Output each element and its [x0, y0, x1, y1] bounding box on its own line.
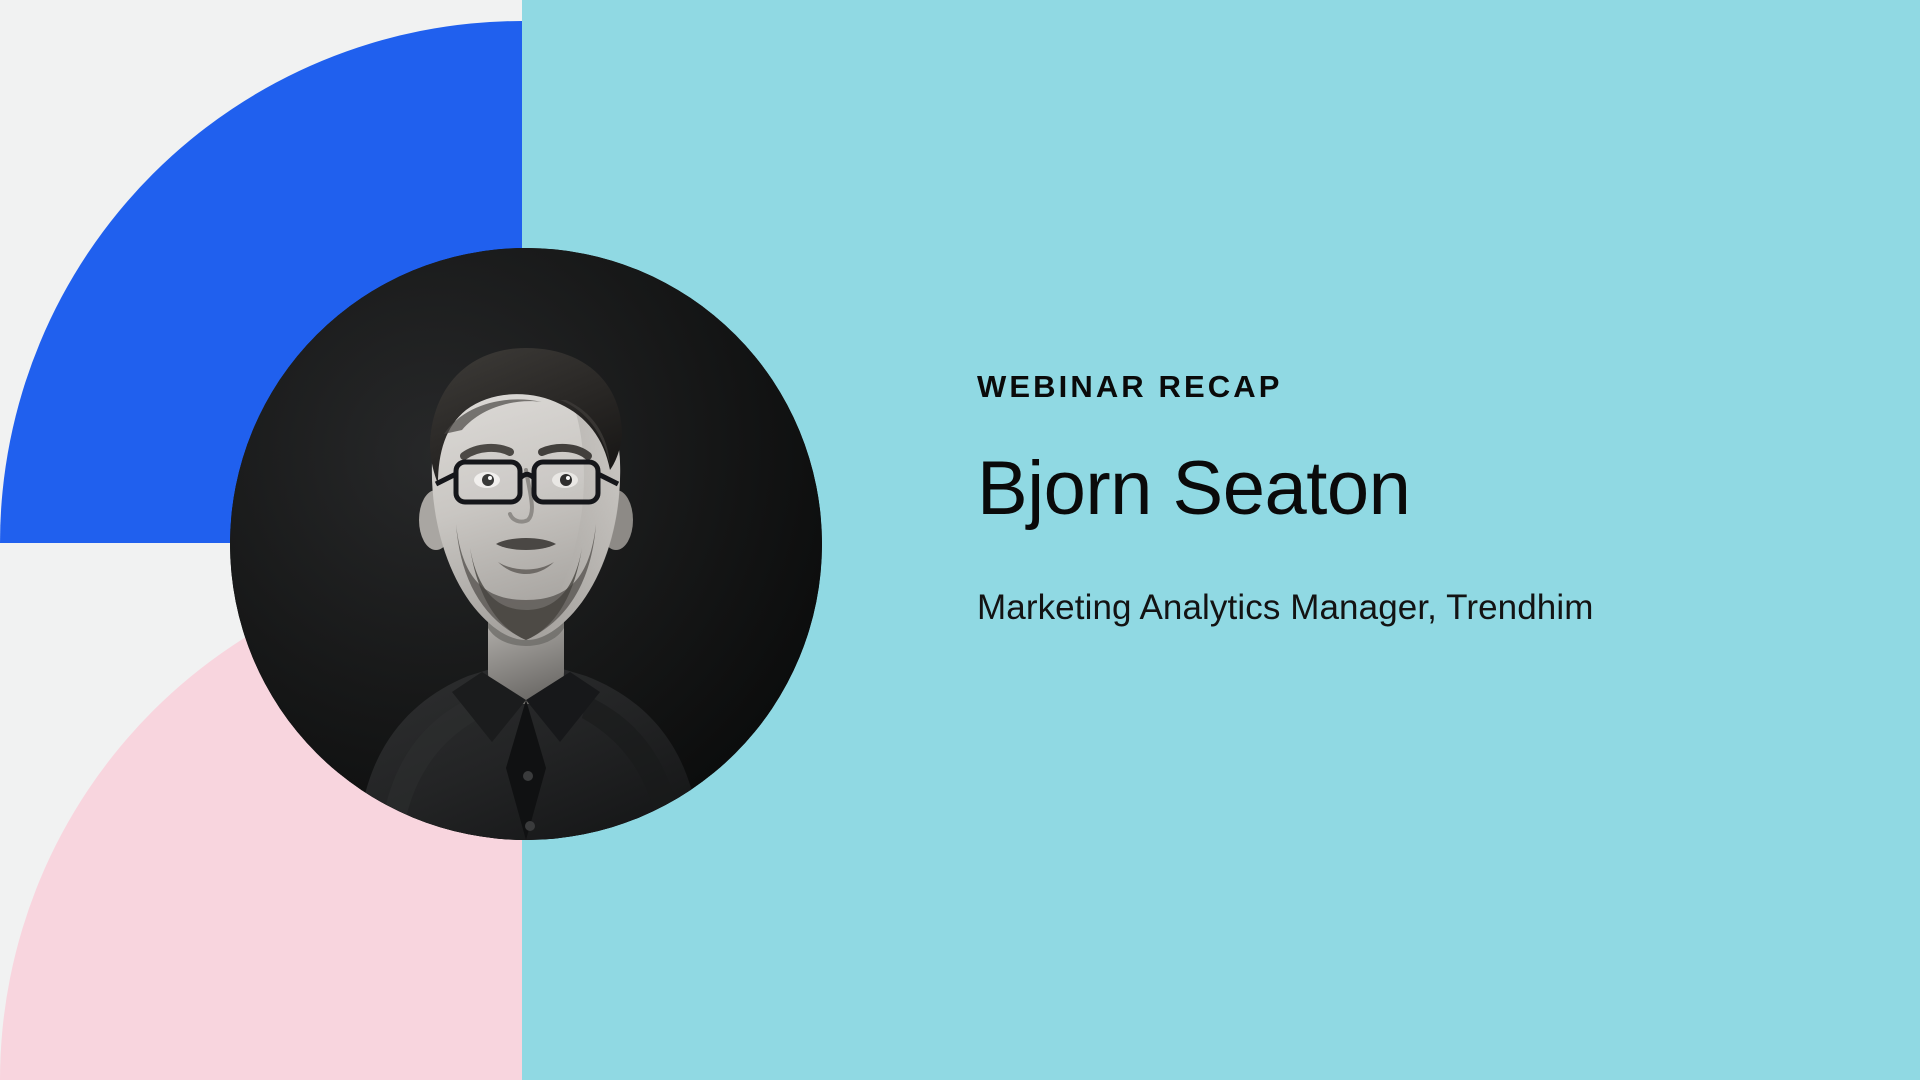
webinar-recap-slide: WEBINAR RECAP Bjorn Seaton Marketing Ana… [0, 0, 1920, 1080]
speaker-title: Marketing Analytics Manager, Trendhim [977, 529, 1757, 629]
speaker-text-block: WEBINAR RECAP Bjorn Seaton Marketing Ana… [977, 370, 1757, 629]
eyebrow-label: WEBINAR RECAP [977, 370, 1757, 404]
speaker-name: Bjorn Seaton [977, 404, 1757, 529]
speaker-portrait [230, 248, 822, 840]
